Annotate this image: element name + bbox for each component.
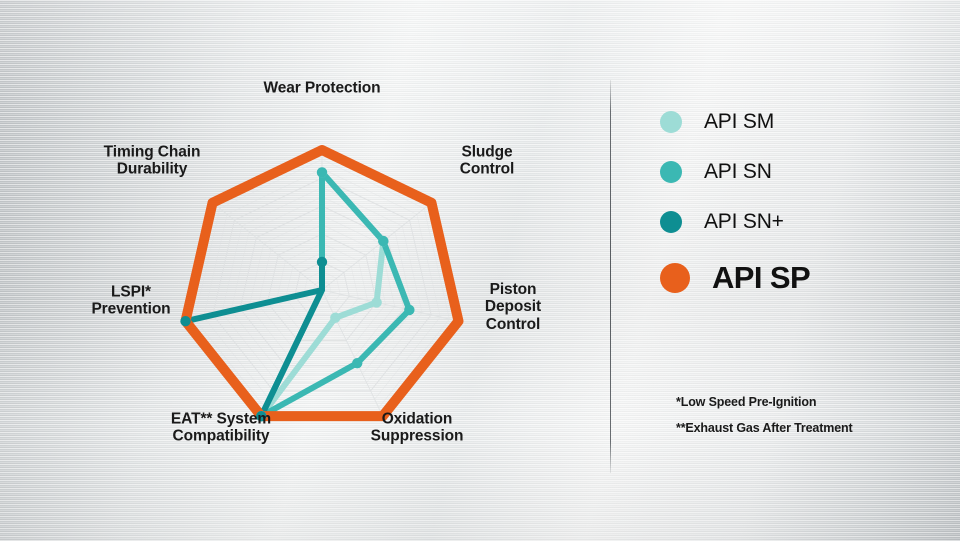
legend-swatch-icon (660, 161, 682, 183)
footnote-2: **Exhaust Gas After Treatment (676, 422, 956, 435)
legend-item-api-sn[interactable]: API SN (660, 160, 950, 184)
legend-item-api-sp[interactable]: API SP (660, 260, 950, 296)
legend-swatch-icon (660, 111, 682, 133)
vertical-divider (610, 80, 611, 473)
legend-swatch-icon (660, 211, 682, 233)
data-point (317, 167, 327, 177)
radar-chart-area: Wear ProtectionSludge ControlPiston Depo… (0, 0, 610, 541)
axis-label-timing-chain-durability: Timing Chain Durability (104, 144, 201, 179)
data-point (180, 316, 190, 326)
axis-label-piston-deposit-control: Piston Deposit Control (485, 281, 541, 333)
legend: API SMAPI SNAPI SN+API SP (660, 110, 950, 322)
axis-label-sludge-control: Sludge Control (460, 144, 514, 179)
data-point (371, 297, 381, 307)
data-point (352, 358, 362, 368)
footnotes: *Low Speed Pre-Ignition**Exhaust Gas Aft… (676, 396, 956, 447)
data-point (404, 305, 414, 315)
data-point (317, 257, 327, 267)
axis-label-lspi-prevention: LSPI* Prevention (91, 284, 170, 319)
legend-label: API SN+ (704, 210, 784, 234)
legend-item-api-sn-[interactable]: API SN+ (660, 210, 950, 234)
legend-swatch-icon (660, 263, 690, 293)
axis-label-eat-system-compatibility: EAT** System Compatibility (171, 411, 271, 446)
legend-label: API SN (704, 160, 772, 184)
legend-label: API SP (712, 260, 810, 296)
axis-label-wear-protection: Wear Protection (263, 79, 380, 96)
infographic-root: Wear ProtectionSludge ControlPiston Depo… (0, 0, 960, 541)
axis-label-oxidation-suppression: Oxidation Suppression (371, 411, 464, 446)
data-point (378, 236, 388, 246)
radar-series (186, 150, 459, 416)
legend-label: API SM (704, 110, 774, 134)
legend-item-api-sm[interactable]: API SM (660, 110, 950, 134)
data-point (330, 313, 340, 323)
footnote-1: *Low Speed Pre-Ignition (676, 396, 956, 409)
